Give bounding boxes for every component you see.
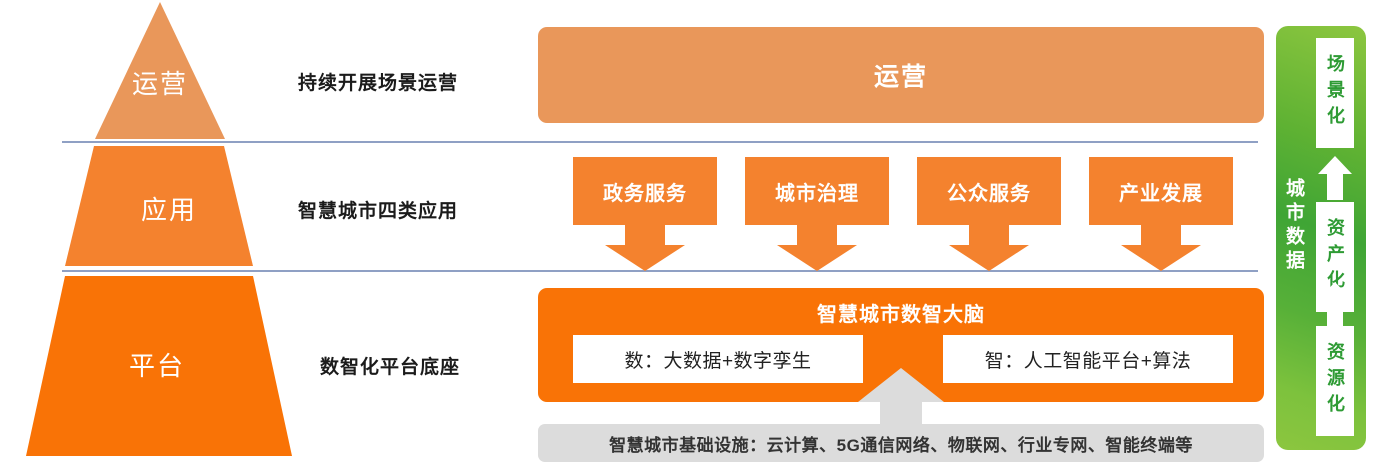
pyramid-tier-platform[interactable]: 平台: [22, 276, 292, 456]
pyramid-tier-operations[interactable]: 运营: [60, 2, 260, 139]
application-box-government-service[interactable]: 政务服务: [573, 157, 717, 225]
tier-caption-platform: 数智化平台底座: [320, 352, 540, 379]
operations-bar[interactable]: 运营: [538, 27, 1264, 123]
arrow-down-icon: [745, 225, 889, 271]
pyramid-tier-label-application: 应用: [60, 190, 278, 227]
city-data-vertical-label: 城市数据: [1282, 178, 1308, 274]
application-column-3: 产业发展: [1089, 157, 1233, 271]
application-column-0: 政务服务: [573, 157, 717, 271]
city-data-column[interactable]: 城市数据 场景化 资产化 资源化: [1276, 26, 1366, 450]
data-stage-label: 资源化: [1316, 342, 1354, 420]
platform-module-data[interactable]: 数：大数据+数字孪生: [573, 335, 863, 383]
diagram-canvas: 运营 应用 平台 持续开展场景运营 智慧城市四类应用 数智化平台底座 运营 政务…: [0, 0, 1378, 472]
platform-module-label: 数：大数据+数字孪生: [624, 346, 811, 373]
data-stage-scenario[interactable]: 场景化: [1316, 38, 1354, 148]
platform-title: 智慧城市数智大脑: [538, 298, 1264, 327]
pyramid-tier-application[interactable]: 应用: [60, 146, 278, 266]
application-box-city-governance[interactable]: 城市治理: [745, 157, 889, 225]
infrastructure-bar[interactable]: 智慧城市基础设施：云计算、5G通信网络、物联网、行业专网、智能终端等: [538, 424, 1264, 462]
arrow-down-icon: [573, 225, 717, 271]
tier-caption-application: 智慧城市四类应用: [298, 196, 518, 223]
application-column-2: 公众服务: [917, 157, 1061, 271]
application-box-label: 公众服务: [947, 177, 1031, 206]
data-stage-label: 场景化: [1316, 54, 1354, 132]
application-box-label: 城市治理: [775, 177, 859, 206]
infrastructure-bar-label: 智慧城市基础设施：云计算、5G通信网络、物联网、行业专网、智能终端等: [609, 431, 1193, 456]
application-column-1: 城市治理: [745, 157, 889, 271]
application-box-industry-development[interactable]: 产业发展: [1089, 157, 1233, 225]
arrow-up-icon: [1318, 156, 1352, 200]
pyramid-tier-label-platform: 平台: [22, 346, 292, 383]
data-stage-resource[interactable]: 资源化: [1316, 326, 1354, 436]
arrow-up-icon: [858, 368, 944, 430]
application-box-label: 政务服务: [603, 177, 687, 206]
tier-caption-operations: 持续开展场景运营: [298, 68, 518, 95]
tier-divider-top: [62, 141, 1258, 143]
application-box-public-service[interactable]: 公众服务: [917, 157, 1061, 225]
operations-bar-label: 运营: [874, 57, 928, 93]
arrow-up-icon: [1318, 282, 1352, 326]
application-box-label: 产业发展: [1119, 177, 1203, 206]
arrow-down-icon: [1089, 225, 1233, 271]
arrow-down-icon: [917, 225, 1061, 271]
platform-module-label: 智：人工智能平台+算法: [985, 346, 1192, 373]
pyramid-tier-label-operations: 运营: [60, 64, 260, 101]
platform-module-intelligence[interactable]: 智：人工智能平台+算法: [943, 335, 1233, 383]
